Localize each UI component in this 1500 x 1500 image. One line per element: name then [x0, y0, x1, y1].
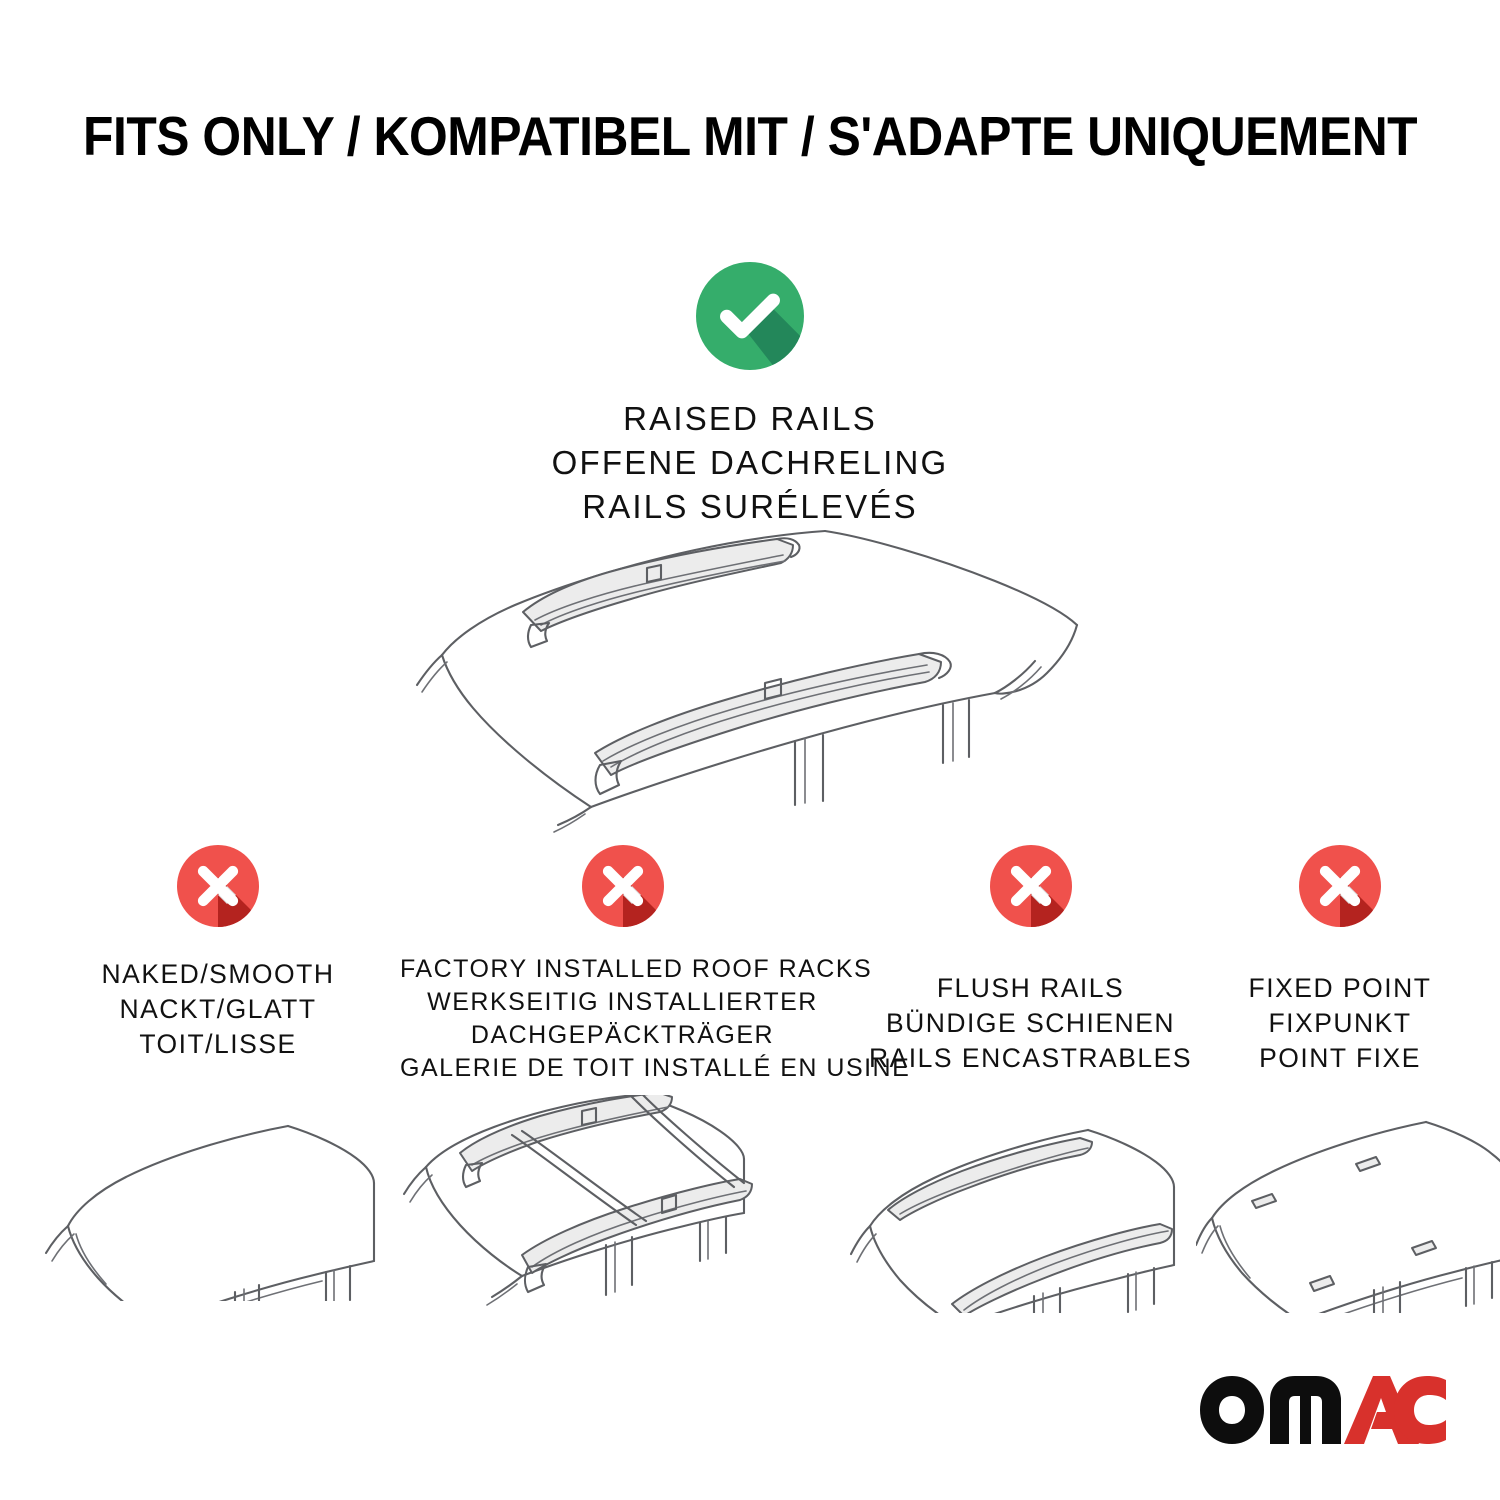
factory-roof-rack-illustration	[400, 1095, 845, 1325]
flush-rails-illustration	[848, 1098, 1213, 1313]
category-label: FIXED POINT FIXPUNKT POINT FIXE	[1196, 971, 1484, 1076]
category-label-line-2: NACKT/GLATT	[38, 992, 398, 1027]
category-label-line-3: TOIT/LISSE	[38, 1027, 398, 1062]
category-naked-smooth: NAKED/SMOOTH NACKT/GLATT TOIT/LISSE	[38, 845, 398, 1301]
approved-label-line-2: OFFENE DACHRELING	[0, 441, 1500, 485]
cross-circle-icon	[38, 845, 398, 931]
category-label-line-2: WERKSEITIG INSTALLIERTER	[400, 986, 845, 1019]
cross-circle-icon	[848, 845, 1213, 931]
category-label-line-2: FIXPUNKT	[1196, 1006, 1484, 1041]
category-flush-rails: FLUSH RAILS BÜNDIGE SCHIENEN RAILS ENCAS…	[848, 845, 1213, 1313]
category-label-line-1: FLUSH RAILS	[848, 971, 1213, 1006]
cross-circle-icon	[1196, 845, 1484, 931]
bare-roof-illustration	[38, 1086, 398, 1301]
page-title: FITS ONLY / KOMPATIBEL MIT / S'ADAPTE UN…	[83, 108, 1417, 166]
category-label-line-3: DACHGEPÄCKTRÄGER	[400, 1019, 845, 1052]
category-label: FACTORY INSTALLED ROOF RACKS WERKSEITIG …	[400, 953, 845, 1085]
omac-logo	[1198, 1374, 1448, 1448]
category-label-line-1: FIXED POINT	[1196, 971, 1484, 1006]
title-bar: FITS ONLY / KOMPATIBEL MIT / S'ADAPTE UN…	[0, 108, 1500, 166]
category-label-line-1: NAKED/SMOOTH	[38, 957, 398, 992]
category-factory-installed-roof-racks: FACTORY INSTALLED ROOF RACKS WERKSEITIG …	[400, 845, 845, 1325]
approved-label-line-1: RAISED RAILS	[0, 397, 1500, 441]
category-label-line-3: POINT FIXE	[1196, 1041, 1484, 1076]
category-label: FLUSH RAILS BÜNDIGE SCHIENEN RAILS ENCAS…	[848, 971, 1213, 1076]
check-circle-icon	[696, 262, 804, 370]
category-label-line-2: BÜNDIGE SCHIENEN	[848, 1006, 1213, 1041]
cross-circle-icon	[400, 845, 845, 931]
incompatible-categories: NAKED/SMOOTH NACKT/GLATT TOIT/LISSE	[0, 845, 1500, 1295]
approved-category: RAISED RAILS OFFENE DACHRELING RAILS SUR…	[0, 262, 1500, 529]
raised-rails-illustration	[395, 505, 1105, 835]
category-fixed-point: FIXED POINT FIXPUNKT POINT FIXE	[1196, 845, 1484, 1313]
category-label-line-3: RAILS ENCASTRABLES	[848, 1041, 1213, 1076]
fixed-point-roof-illustration	[1196, 1098, 1484, 1313]
category-label: NAKED/SMOOTH NACKT/GLATT TOIT/LISSE	[38, 957, 398, 1062]
category-label-line-1: FACTORY INSTALLED ROOF RACKS	[400, 953, 845, 986]
category-label-line-4: GALERIE DE TOIT INSTALLÉ EN USINE	[400, 1052, 845, 1085]
